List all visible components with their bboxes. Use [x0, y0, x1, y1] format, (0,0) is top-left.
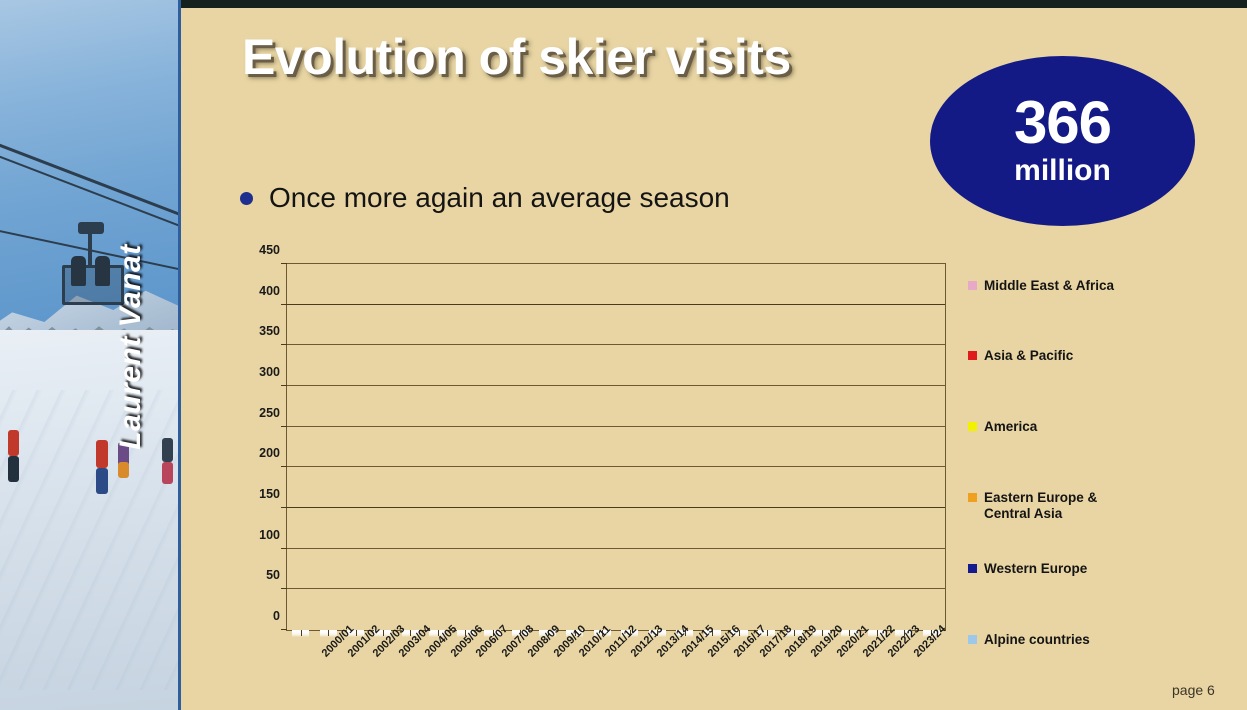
x-label-slot: 2004/05 — [424, 630, 450, 710]
y-axis-tick-label: 150 — [259, 487, 280, 501]
x-label-slot: 2023/24 — [913, 630, 939, 710]
badge-unit: million — [1014, 153, 1111, 189]
photographer-watermark: Laurent Vanat — [114, 182, 148, 512]
highlight-badge: 366 million — [930, 56, 1195, 226]
bar-slot[interactable] — [781, 264, 808, 630]
x-label-slot: 2008/09 — [527, 630, 553, 710]
legend-label: Western Europe — [984, 561, 1087, 577]
legend-item[interactable]: Alpine countries — [968, 632, 1090, 648]
chart-plot-area: 050100150200250300350400450 2000/012001/… — [286, 263, 946, 631]
bullet-row: Once more again an average season — [240, 182, 730, 214]
bar-slot[interactable] — [863, 264, 890, 630]
legend-label: Alpine countries — [984, 632, 1090, 648]
bar-slot[interactable] — [506, 264, 533, 630]
bullet-text: Once more again an average season — [269, 182, 730, 214]
legend-item[interactable]: Middle East & Africa — [968, 278, 1114, 294]
x-label-slot: 2005/06 — [450, 630, 476, 710]
x-label-slot: 2016/17 — [733, 630, 759, 710]
skier-visits-stacked-bar-chart: 050100150200250300350400450 2000/012001/… — [252, 258, 952, 638]
skier-figure-dark-left — [8, 456, 19, 482]
x-label-slot: 2020/21 — [836, 630, 862, 710]
bar-slot[interactable] — [698, 264, 725, 630]
bar-slot[interactable] — [452, 264, 479, 630]
y-axis-tick-label: 250 — [259, 406, 280, 420]
bar-slot[interactable] — [534, 264, 561, 630]
legend-label: Asia & Pacific — [984, 348, 1073, 364]
bar-slot[interactable] — [808, 264, 835, 630]
slide-root: Laurent Vanat Evolution of skier visits … — [0, 0, 1247, 710]
skier-figure-far-right-lower — [162, 462, 173, 484]
bar-slot[interactable] — [726, 264, 753, 630]
bar-slot[interactable] — [369, 264, 396, 630]
y-axis-tick-label: 400 — [259, 284, 280, 298]
bar-slot[interactable] — [671, 264, 698, 630]
bar-slot[interactable] — [397, 264, 424, 630]
x-label-slot: 2012/13 — [630, 630, 656, 710]
legend-swatch-icon — [968, 422, 977, 431]
x-label-slot: 2007/08 — [501, 630, 527, 710]
bar-slot[interactable] — [616, 264, 643, 630]
y-axis-tick-label: 300 — [259, 365, 280, 379]
x-label-slot: 2006/07 — [476, 630, 502, 710]
chart-x-axis-labels: 2000/012001/022002/032003/042004/052005/… — [321, 630, 939, 710]
x-label-slot: 2015/16 — [707, 630, 733, 710]
bar-slot[interactable] — [287, 264, 314, 630]
x-label-slot: 2009/10 — [553, 630, 579, 710]
lift-rider-right — [95, 256, 110, 286]
legend-item[interactable]: America — [968, 419, 1037, 435]
bar-slot[interactable] — [342, 264, 369, 630]
skier-figure-blue-center — [96, 468, 108, 494]
bar-slot[interactable] — [643, 264, 670, 630]
chart-bar-group — [287, 264, 945, 630]
x-label-slot: 2011/12 — [604, 630, 630, 710]
legend-swatch-icon — [968, 564, 977, 573]
x-label-slot: 2001/02 — [347, 630, 373, 710]
page-number: page 6 — [1172, 682, 1215, 698]
photo-snow-slope — [0, 330, 180, 710]
legend-label: America — [984, 419, 1037, 435]
legend-swatch-icon — [968, 281, 977, 290]
y-axis-tick-label: 200 — [259, 446, 280, 460]
x-label-slot: 2000/01 — [321, 630, 347, 710]
x-label-slot: 2019/20 — [810, 630, 836, 710]
x-label-slot: 2014/15 — [682, 630, 708, 710]
lift-hanger-post — [88, 232, 92, 268]
x-label-slot: 2021/22 — [862, 630, 888, 710]
legend-label: Middle East & Africa — [984, 278, 1114, 294]
skier-figure-red-left — [8, 430, 19, 456]
legend-swatch-icon — [968, 493, 977, 502]
y-axis-tick-label: 0 — [273, 609, 280, 623]
x-label-slot: 2017/18 — [759, 630, 785, 710]
legend-item[interactable]: Western Europe — [968, 561, 1087, 577]
bar-slot[interactable] — [753, 264, 780, 630]
legend-item[interactable]: Eastern Europe &Central Asia — [968, 490, 1097, 523]
bar-slot[interactable] — [890, 264, 917, 630]
y-axis-tick-label: 350 — [259, 324, 280, 338]
skier-figure-red-center — [96, 440, 108, 468]
top-strip — [0, 0, 1247, 8]
bar-slot[interactable] — [314, 264, 341, 630]
x-tickmark — [301, 630, 302, 636]
bar-slot[interactable] — [424, 264, 451, 630]
x-label-slot: 2010/11 — [579, 630, 605, 710]
badge-number: 366 — [1014, 94, 1111, 151]
legend-swatch-icon — [968, 635, 977, 644]
bar-slot[interactable] — [561, 264, 588, 630]
x-label-slot: 2002/03 — [373, 630, 399, 710]
skier-figure-far-right — [162, 438, 173, 462]
bar-slot[interactable] — [479, 264, 506, 630]
x-label-slot: 2022/23 — [888, 630, 914, 710]
bar-slot[interactable] — [835, 264, 862, 630]
bar-slot[interactable] — [589, 264, 616, 630]
x-label-slot: 2013/14 — [656, 630, 682, 710]
page-title: Evolution of skier visits — [242, 28, 791, 86]
bar-slot[interactable] — [918, 264, 945, 630]
x-label-slot: 2003/04 — [398, 630, 424, 710]
legend-item[interactable]: Asia & Pacific — [968, 348, 1073, 364]
photo-blue-edge — [178, 0, 181, 710]
y-axis-tick-label: 100 — [259, 528, 280, 542]
x-label-slot: 2018/19 — [785, 630, 811, 710]
legend-swatch-icon — [968, 351, 977, 360]
lift-rider-left — [71, 256, 86, 286]
ski-photo: Laurent Vanat — [0, 0, 180, 710]
bullet-dot-icon — [240, 192, 253, 205]
y-axis-tick-label: 50 — [266, 568, 280, 582]
y-axis-tick-label: 450 — [259, 243, 280, 257]
legend-label: Eastern Europe &Central Asia — [984, 490, 1097, 523]
